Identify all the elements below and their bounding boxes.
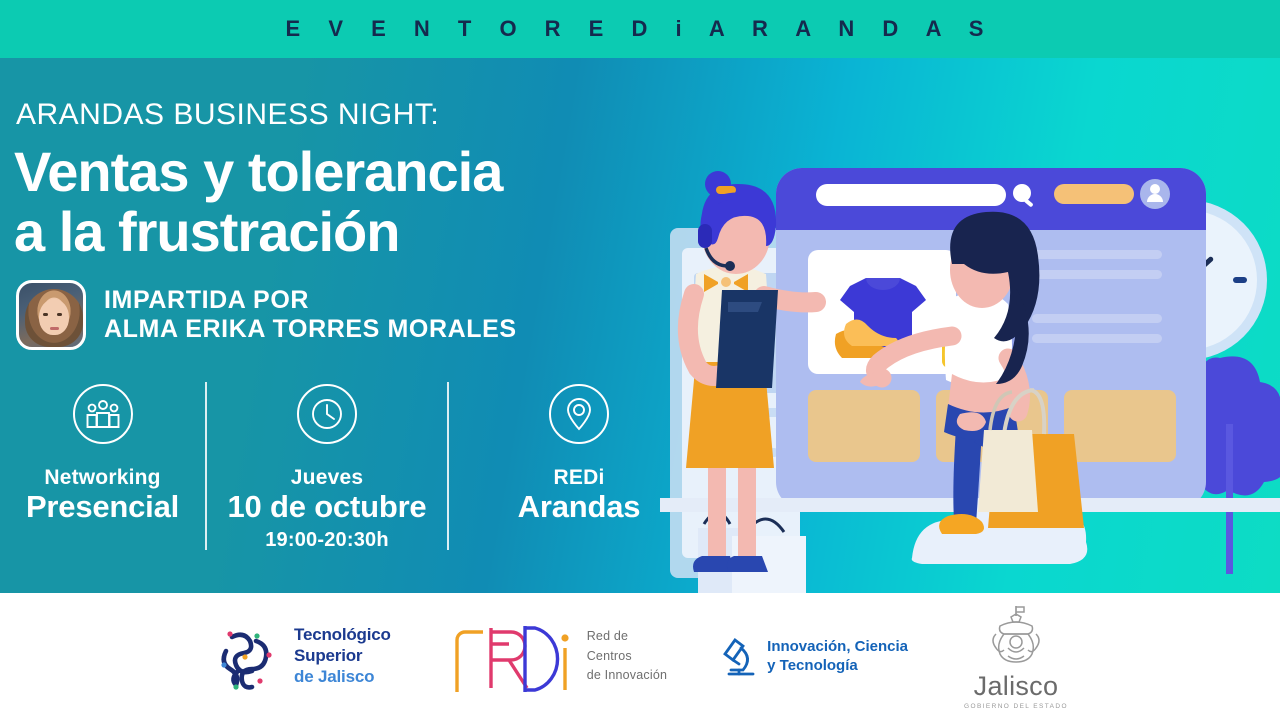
jalisco-subtitle: GOBIERNO DEL ESTADO xyxy=(964,703,1068,710)
jalisco-wordmark: Jalisco xyxy=(964,671,1068,702)
tsj-mark-icon xyxy=(212,621,284,693)
redi-line3: de Innovación xyxy=(587,666,667,685)
speaker-block: IMPARTIDA POR ALMA ERIKA TORRES MORALES xyxy=(16,280,517,350)
tsj-line1: Tecnológico xyxy=(294,625,391,646)
redi-line2: Centros xyxy=(587,647,667,666)
event-title-line2: a la frustración xyxy=(14,202,502,262)
tsj-line2: Superior xyxy=(294,646,391,667)
info-date-time: 19:00-20:30h xyxy=(207,529,447,552)
tsj-line3: de Jalisco xyxy=(294,667,391,688)
logo-innovacion-ciencia-tecnologia: Innovación, Ciencia y Tecnología xyxy=(723,634,908,680)
people-icon xyxy=(73,384,133,444)
redi-mark-icon xyxy=(447,618,577,696)
jalisco-coat-of-arms-icon xyxy=(978,604,1054,664)
info-modality-big: Presencial xyxy=(0,490,205,524)
ecommerce-illustration xyxy=(660,58,1280,593)
logo-jalisco: Jalisco GOBIERNO DEL ESTADO xyxy=(964,604,1068,710)
event-info-strip: Networking Presencial Jueves 10 de octub… xyxy=(0,376,720,591)
event-title: Ventas y tolerancia a la frustración xyxy=(14,142,502,263)
ict-line1: Innovación, Ciencia xyxy=(767,638,908,657)
logo-tecnologico-superior-de-jalisco: Tecnológico Superior de Jalisco xyxy=(212,621,391,693)
info-block-location: REDi Arandas xyxy=(449,376,709,524)
info-date-big: 10 de octubre xyxy=(207,490,447,524)
hero-banner: ARANDAS BUSINESS NIGHT: Ventas y toleran… xyxy=(0,58,1280,593)
info-block-date: Jueves 10 de octubre 19:00-20:30h xyxy=(207,376,447,552)
redi-line1: Red de xyxy=(587,627,667,646)
tsj-logo-text: Tecnológico Superior de Jalisco xyxy=(294,625,391,687)
event-title-line1: Ventas y tolerancia xyxy=(14,142,502,202)
avatar-eye-left xyxy=(43,313,48,316)
avatar-mouth xyxy=(50,327,59,330)
redi-logo-text: Red de Centros de Innovación xyxy=(587,627,667,685)
logo-redi: Red de Centros de Innovación xyxy=(447,618,667,696)
sponsor-footer: Tecnológico Superior de Jalisco Red de C… xyxy=(0,593,1280,720)
event-topbar: E V E N T O R E D i A R A N D A S xyxy=(0,0,1280,58)
info-date-small: Jueves xyxy=(207,466,447,490)
info-block-modality: Networking Presencial xyxy=(0,376,205,524)
speaker-name: ALMA ERIKA TORRES MORALES xyxy=(104,315,517,345)
microscope-icon xyxy=(723,634,757,680)
ict-line2: y Tecnología xyxy=(767,657,908,676)
avatar xyxy=(16,280,86,350)
event-kicker: ARANDAS BUSINESS NIGHT: xyxy=(16,98,439,132)
info-location-big: Arandas xyxy=(449,490,709,524)
avatar-eye-right xyxy=(57,313,62,316)
speaker-label: IMPARTIDA POR xyxy=(104,286,517,316)
location-pin-icon xyxy=(549,384,609,444)
event-topbar-label: E V E N T O R E D i A R A N D A S xyxy=(286,16,995,42)
ict-logo-text: Innovación, Ciencia y Tecnología xyxy=(767,638,908,676)
speaker-text: IMPARTIDA POR ALMA ERIKA TORRES MORALES xyxy=(104,286,517,345)
info-modality-small: Networking xyxy=(0,466,205,490)
info-location-small: REDi xyxy=(449,466,709,490)
clock-icon xyxy=(297,384,357,444)
